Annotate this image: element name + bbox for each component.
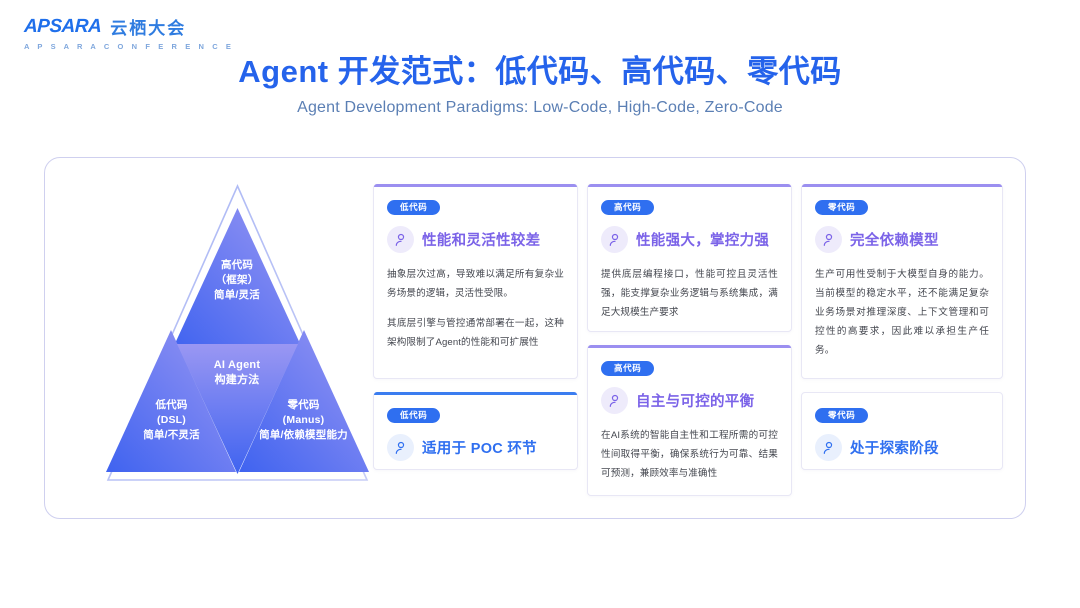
logo-brand-chinese: 云栖大会 (110, 14, 186, 39)
card-body: 生产可用性受制于大模型自身的能力。当前模型的稳定水平，还不能满足复杂业务场景对推… (815, 265, 989, 360)
card-title: 适用于 POC 环节 (422, 437, 537, 458)
triangle-node-top (172, 208, 303, 350)
user-icon (387, 434, 414, 461)
card-paragraph: 抽象层次过高，导致难以满足所有复杂业务场景的逻辑，灵活性受限。 (387, 265, 564, 303)
triangle-svg (105, 182, 370, 494)
slide-header: Agent 开发范式：低代码、高代码、零代码 Agent Development… (0, 52, 1080, 117)
badge-lowcode: 低代码 (387, 200, 440, 216)
page-title: Agent 开发范式：低代码、高代码、零代码 (0, 52, 1080, 92)
badge-zerocode: 零代码 (815, 200, 868, 216)
card-title: 性能强大，掌控力强 (636, 229, 769, 250)
card-header: 自主与可控的平衡 (601, 387, 778, 414)
page-subtitle: Agent Development Paradigms: Low-Code, H… (0, 99, 1080, 117)
card-body: 在AI系统的智能自主性和工程所需的可控性间取得平衡，确保系统行为可靠、结果可预测… (601, 426, 778, 483)
badge-highcode: 高代码 (601, 361, 654, 377)
card-paragraph: 其底层引擎与管控通常部署在一起，这种架构限制了Agent的性能和可扩展性 (387, 314, 564, 352)
paradigm-cards-grid: 低代码 性能和灵活性较差 抽象层次过高，导致难以满足所有复杂业务场景的逻辑，灵活… (373, 184, 1003, 496)
apsara-conference-logo: APSARA 云栖大会 A P S A R A C O N F E R E N … (24, 14, 234, 51)
card-title: 完全依赖模型 (850, 229, 939, 250)
card-highcode-balance[interactable]: 高代码 自主与可控的平衡 在AI系统的智能自主性和工程所需的可控性间取得平衡，确… (587, 345, 792, 496)
logo-subtitle: A P S A R A C O N F E R E N C E (24, 42, 234, 51)
card-header: 完全依赖模型 (815, 226, 989, 253)
user-icon (815, 434, 842, 461)
card-paragraph: 生产可用性受制于大模型自身的能力。当前模型的稳定水平，还不能满足复杂业务场景对推… (815, 265, 989, 360)
card-highcode-performance[interactable]: 高代码 性能强大，掌控力强 提供底层编程接口，性能可控且灵活性强，能支撑复杂业务… (587, 184, 792, 332)
card-lowcode-poc[interactable]: 低代码 适用于 POC 环节 (373, 392, 578, 470)
card-header: 处于探索阶段 (815, 434, 989, 461)
column-zerocode: 零代码 完全依赖模型 生产可用性受制于大模型自身的能力。当前模型的稳定水平，还不… (801, 184, 1003, 496)
card-header: 性能和灵活性较差 (387, 226, 564, 253)
badge-zerocode: 零代码 (815, 408, 868, 424)
card-header: 适用于 POC 环节 (387, 434, 564, 461)
logo-main-row: APSARA 云栖大会 (24, 14, 234, 39)
user-icon (601, 387, 628, 414)
card-title: 自主与可控的平衡 (636, 390, 754, 411)
card-zerocode-model-dependent[interactable]: 零代码 完全依赖模型 生产可用性受制于大模型自身的能力。当前模型的稳定水平，还不… (801, 184, 1003, 379)
user-icon (387, 226, 414, 253)
card-zerocode-exploration[interactable]: 零代码 处于探索阶段 (801, 392, 1003, 470)
card-body: 抽象层次过高，导致难以满足所有复杂业务场景的逻辑，灵活性受限。 其底层引擎与管控… (387, 265, 564, 352)
card-title: 性能和灵活性较差 (422, 229, 540, 250)
content-panel: 高代码 （框架） 简单/灵活 低代码 (DSL) 简单/不灵活 零代码 (Man… (44, 157, 1026, 519)
badge-lowcode: 低代码 (387, 408, 440, 424)
column-highcode: 高代码 性能强大，掌控力强 提供底层编程接口，性能可控且灵活性强，能支撑复杂业务… (587, 184, 792, 496)
user-icon (815, 226, 842, 253)
card-lowcode-drawback[interactable]: 低代码 性能和灵活性较差 抽象层次过高，导致难以满足所有复杂业务场景的逻辑，灵活… (373, 184, 578, 379)
column-lowcode: 低代码 性能和灵活性较差 抽象层次过高，导致难以满足所有复杂业务场景的逻辑，灵活… (373, 184, 578, 496)
card-paragraph: 提供底层编程接口，性能可控且灵活性强，能支撑复杂业务逻辑与系统集成，满足大规模生… (601, 265, 778, 322)
card-title: 处于探索阶段 (850, 437, 939, 458)
card-header: 性能强大，掌控力强 (601, 226, 778, 253)
badge-highcode: 高代码 (601, 200, 654, 216)
logo-brand-text: APSARA (24, 16, 102, 38)
card-body: 提供底层编程接口，性能可控且灵活性强，能支撑复杂业务逻辑与系统集成，满足大规模生… (601, 265, 778, 322)
card-paragraph: 在AI系统的智能自主性和工程所需的可控性间取得平衡，确保系统行为可靠、结果可预测… (601, 426, 778, 483)
user-icon (601, 226, 628, 253)
ai-agent-paradigm-triangle: 高代码 （框架） 简单/灵活 低代码 (DSL) 简单/不灵活 零代码 (Man… (105, 182, 370, 494)
